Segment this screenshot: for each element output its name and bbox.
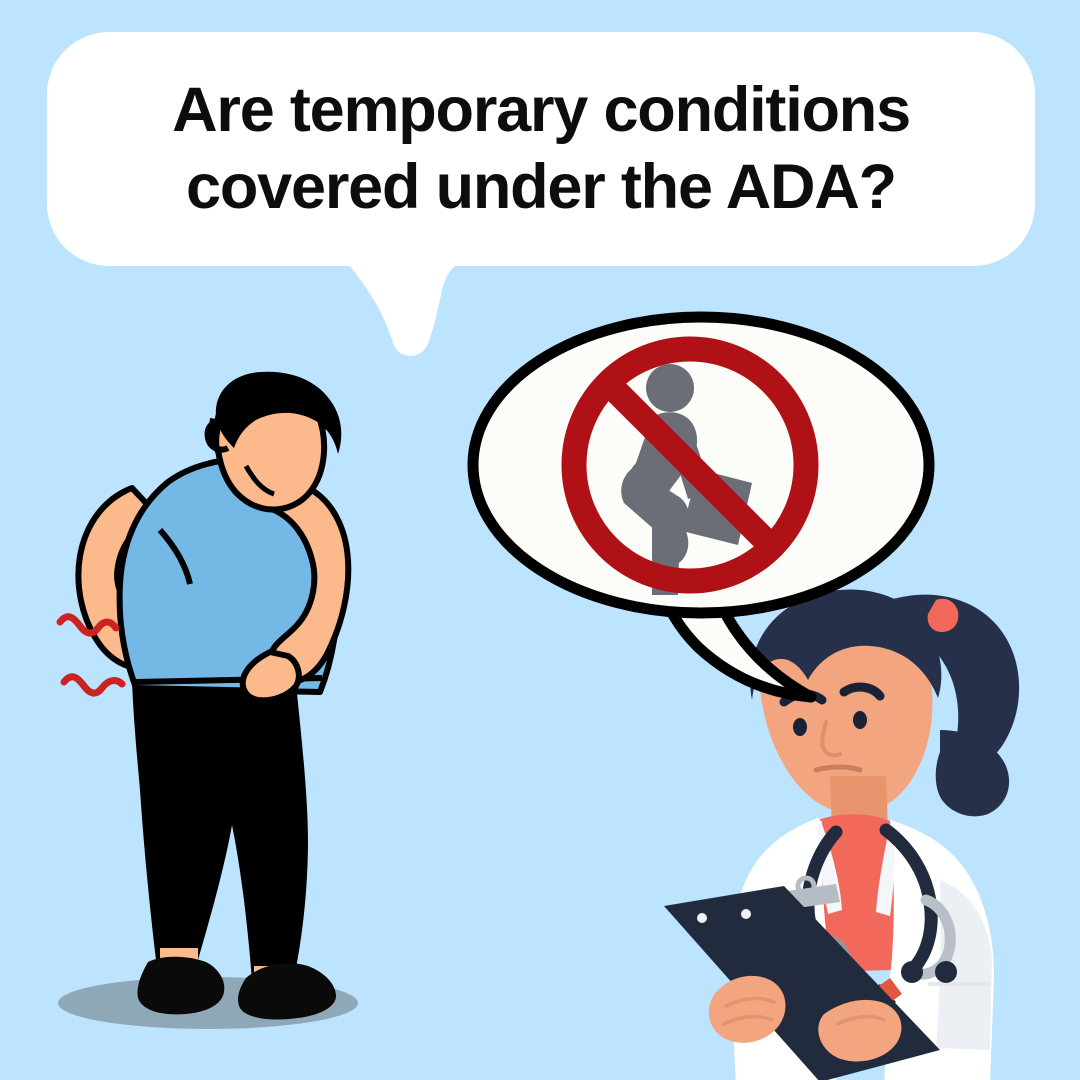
doctor-left-eye: [793, 718, 807, 736]
man-left-shoe: [137, 957, 224, 1015]
man-with-back-pain: [40, 370, 420, 1050]
clipboard-dot-left: [697, 913, 707, 923]
man-pants: [132, 675, 308, 980]
poster-canvas: Are temporary conditions covered under t…: [0, 0, 1080, 1080]
stethoscope-earpiece-left: [901, 961, 923, 983]
pain-zigzag-lower: [64, 677, 122, 693]
title-speech-bubble: Are temporary conditions covered under t…: [47, 32, 1035, 266]
figure-head: [646, 364, 694, 412]
stethoscope-earpiece-right: [935, 961, 957, 983]
page-title: Are temporary conditions covered under t…: [146, 72, 936, 226]
doctor-right-eye: [853, 711, 867, 729]
thought-bubble-no-lifting: [466, 305, 976, 705]
clipboard-dot-right: [741, 909, 751, 919]
